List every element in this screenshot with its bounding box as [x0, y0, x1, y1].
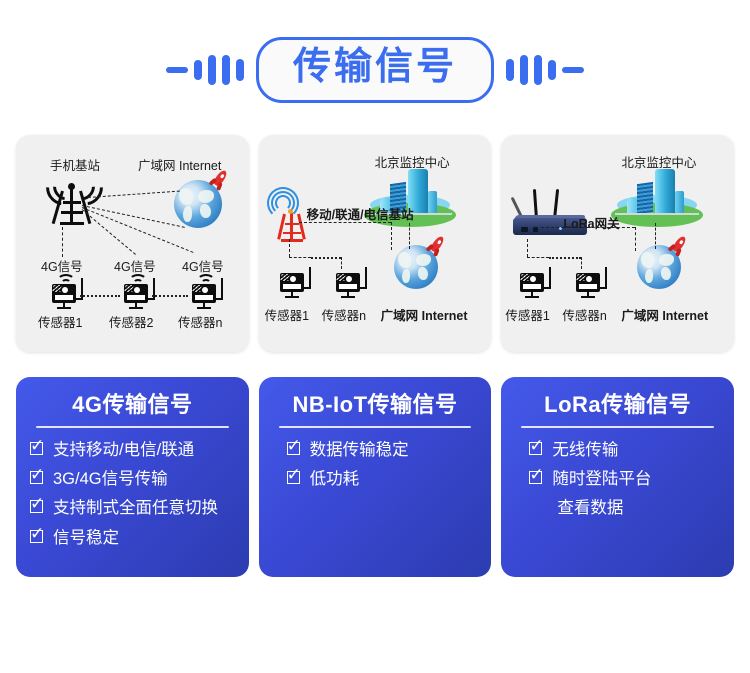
- feature-label: 3G/4G信号传输: [53, 469, 168, 490]
- feature-label: 信号稳定: [53, 528, 119, 549]
- link-line: [635, 227, 636, 251]
- page-title: 传输信号: [293, 46, 457, 90]
- cell-tower-icon: [46, 175, 98, 227]
- feature-panel-nbiot[interactable]: NB-IoT传输信号 ✓ 数据传输稳定 ✓ 低功耗: [259, 377, 492, 577]
- deco-bar: [506, 59, 514, 81]
- feature-item: ✓ 数据传输稳定: [287, 440, 478, 461]
- feature-panel-lora[interactable]: LoRa传输信号 ✓ 无线传输 ✓ 随时登陆平台 查看数据: [501, 377, 734, 577]
- panel-divider: [521, 426, 714, 428]
- feature-item: ✓ 无线传输: [529, 440, 720, 461]
- feature-item-continuation: 查看数据: [529, 498, 720, 519]
- deco-bar: [520, 55, 528, 85]
- label-sensor-n: 传感器n: [178, 312, 222, 331]
- panel-divider: [36, 426, 229, 428]
- deco-bar: [222, 55, 230, 85]
- checkbox-icon: ✓: [529, 471, 544, 486]
- panel-title: NB-IoT传输信号: [273, 391, 478, 419]
- panel-divider: [279, 426, 472, 428]
- diagram-card-row: 手机基站 广域网 Internet 4G信号 4G: [16, 135, 734, 352]
- checkbox-icon: ✓: [287, 442, 302, 457]
- monitor-center-building-icon: [611, 169, 703, 229]
- deco-bar: [548, 60, 556, 80]
- label-signal-1: 4G信号: [41, 256, 83, 275]
- panel-title: 4G传输信号: [30, 391, 235, 419]
- panel-title: LoRa传输信号: [515, 391, 720, 419]
- checkbox-icon: ✓: [30, 471, 45, 486]
- page-header: 传输信号: [0, 24, 750, 116]
- feature-label: 随时登陆平台: [552, 469, 651, 490]
- feature-item: ✓ 随时登陆平台: [529, 469, 720, 490]
- feature-panel-4g[interactable]: 4G传输信号 ✓ 支持移动/电信/联通 ✓ 3G/4G信号传输 ✓ 支持制式全面…: [16, 377, 249, 577]
- link-line: [409, 223, 410, 249]
- label-sensor-n: 传感器n: [562, 305, 606, 324]
- feature-label: 低功耗: [310, 469, 360, 490]
- feature-label: 支持移动/电信/联通: [53, 440, 194, 461]
- deco-bar: [236, 59, 244, 81]
- diagram-card-4g: 手机基站 广域网 Internet 4G信号 4G: [16, 135, 249, 352]
- sensor-icon: [517, 263, 547, 297]
- label-internet: 广域网 Internet: [381, 305, 468, 324]
- signal-bars-left-icon: [166, 55, 244, 85]
- page-title-box: 传输信号: [256, 37, 494, 103]
- sensor-icon: [121, 274, 151, 308]
- label-signal-3: 4G信号: [182, 256, 224, 275]
- link-line: [527, 239, 528, 257]
- feature-label: 支持制式全面任意切换: [53, 498, 218, 519]
- sensor-icon: [189, 274, 219, 308]
- sensor-icon: [573, 263, 603, 297]
- deco-bar: [194, 60, 202, 80]
- link-line: [62, 227, 63, 257]
- link-line: [80, 295, 120, 297]
- feature-item: ✓ 支持移动/电信/联通: [30, 440, 235, 461]
- link-line: [527, 257, 549, 258]
- link-line: [391, 222, 392, 250]
- feature-label: 数据传输稳定: [310, 440, 409, 461]
- feature-item: ✓ 支持制式全面任意切换: [30, 498, 235, 519]
- deco-bar: [208, 55, 216, 85]
- label-sensor-n: 传感器n: [322, 305, 366, 324]
- link-line: [152, 295, 188, 297]
- checkbox-icon: ✓: [30, 530, 45, 545]
- label-internet: 广域网 Internet: [138, 155, 221, 174]
- link-line: [289, 257, 311, 258]
- checkbox-icon: ✓: [287, 471, 302, 486]
- link-line: [82, 209, 136, 255]
- feature-item: ✓ 信号稳定: [30, 528, 235, 549]
- label-carrier-station: 移动/联通/电信基站: [307, 204, 414, 223]
- label-base-station: 手机基站: [50, 155, 100, 174]
- signal-arc-icon: [267, 187, 299, 219]
- feature-item: ✓ 低功耗: [287, 469, 478, 490]
- link-line: [299, 222, 391, 223]
- feature-label-continuation: 查看数据: [557, 498, 623, 519]
- checkbox-icon: ✓: [30, 442, 45, 457]
- diagram-card-nbiot: 北京监控中心 移动/联通/电信基站: [259, 135, 492, 352]
- signal-dot-icon: [288, 209, 293, 214]
- diagram-card-lora: 北京监控中心 LoRa网关: [501, 135, 734, 352]
- label-signal-2: 4G信号: [114, 256, 156, 275]
- sensor-icon: [277, 263, 307, 297]
- deco-line-left: [166, 67, 188, 73]
- sensor-icon: [49, 274, 79, 308]
- feature-list: ✓ 无线传输 ✓ 随时登陆平台 查看数据: [515, 440, 720, 520]
- checkbox-icon: ✓: [30, 500, 45, 515]
- feature-label: 无线传输: [552, 440, 618, 461]
- label-sensor-1: 传感器1: [505, 305, 549, 324]
- feature-panel-row: 4G传输信号 ✓ 支持移动/电信/联通 ✓ 3G/4G信号传输 ✓ 支持制式全面…: [16, 377, 734, 577]
- feature-item: ✓ 3G/4G信号传输: [30, 469, 235, 490]
- link-line: [655, 223, 656, 249]
- signal-bars-right-icon: [506, 55, 584, 85]
- deco-bar: [534, 55, 542, 85]
- checkbox-icon: ✓: [529, 442, 544, 457]
- label-sensor-1: 传感器1: [38, 312, 82, 331]
- label-sensor-2: 传感器2: [109, 312, 153, 331]
- link-line: [311, 257, 341, 259]
- deco-line-right: [562, 67, 584, 73]
- feature-list: ✓ 数据传输稳定 ✓ 低功耗: [273, 440, 478, 491]
- link-line: [541, 227, 635, 228]
- feature-list: ✓ 支持移动/电信/联通 ✓ 3G/4G信号传输 ✓ 支持制式全面任意切换 ✓ …: [30, 440, 235, 550]
- sensor-icon: [333, 263, 363, 297]
- label-sensor-1: 传感器1: [265, 305, 309, 324]
- link-line: [289, 239, 290, 257]
- label-gateway: LoRa网关: [563, 213, 619, 232]
- link-line: [549, 257, 581, 259]
- label-internet: 广域网 Internet: [621, 305, 708, 324]
